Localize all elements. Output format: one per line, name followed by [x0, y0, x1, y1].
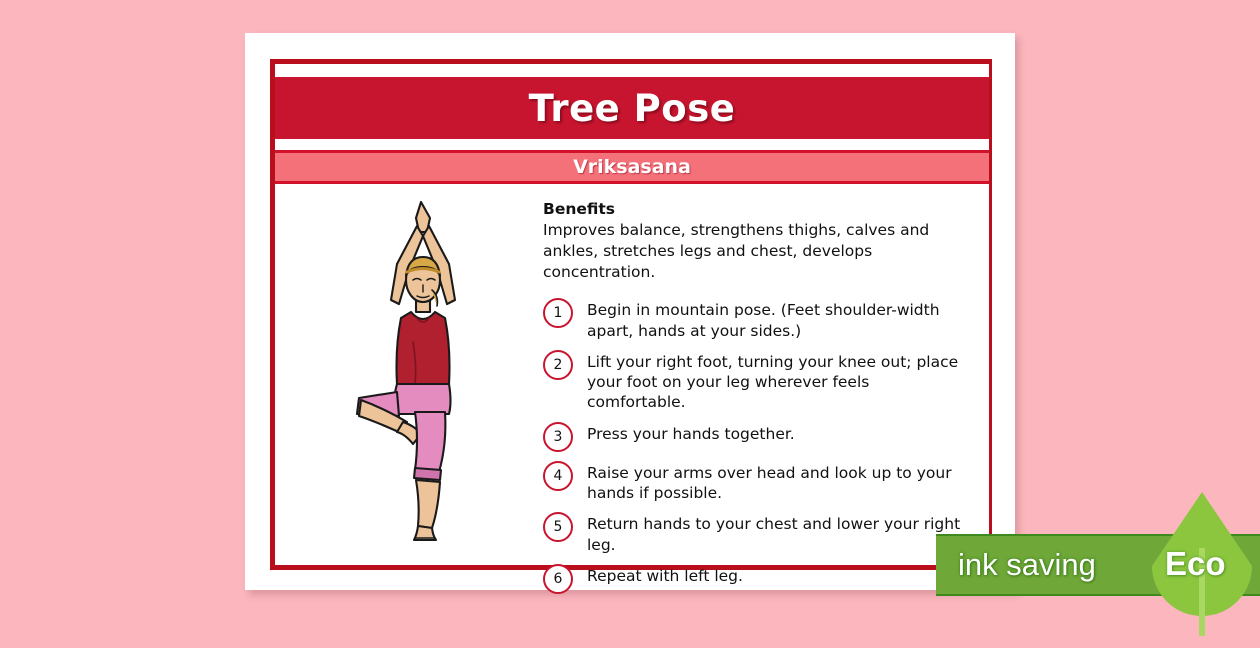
step-text: Begin in mountain pose. (Feet shoulder-w…	[587, 297, 965, 341]
ink-saving-eco-badge: ink saving Eco	[936, 534, 1260, 596]
step-text: Repeat with left leg.	[587, 563, 743, 586]
page-subtitle: Vriksasana	[573, 156, 691, 178]
step-number-badge: 6	[543, 564, 573, 594]
step-number-badge: 3	[543, 422, 573, 452]
illustration-column	[275, 184, 543, 560]
steps-list: 1 Begin in mountain pose. (Feet shoulder…	[543, 297, 985, 594]
step-number-badge: 1	[543, 298, 573, 328]
list-item: 4 Raise your arms over head and look up …	[543, 460, 985, 504]
title-top-gap	[275, 64, 989, 77]
leaf-icon-wrapper: Eco	[1142, 488, 1260, 648]
list-item: 2 Lift your right foot, turning your kne…	[543, 349, 985, 413]
benefits-heading: Benefits	[543, 200, 985, 219]
step-text: Lift your right foot, turning your knee …	[587, 349, 965, 413]
poster-subtitle-bar: Vriksasana	[275, 150, 989, 184]
ink-saving-label: ink saving	[958, 547, 1096, 583]
step-text: Return hands to your chest and lower you…	[587, 511, 965, 555]
list-item: 3 Press your hands together.	[543, 421, 985, 452]
step-number-badge: 5	[543, 512, 573, 542]
poster-page: Tree Pose Vriksasana	[245, 33, 1015, 590]
text-column: Benefits Improves balance, strengthens t…	[543, 184, 989, 560]
subtitle-top-gap	[275, 139, 989, 150]
poster-body: Benefits Improves balance, strengthens t…	[275, 184, 989, 560]
poster-inner-content: Tree Pose Vriksasana	[275, 64, 989, 564]
benefits-text: Improves balance, strengthens thighs, ca…	[543, 220, 943, 282]
step-text: Press your hands together.	[587, 421, 795, 444]
list-item: 5 Return hands to your chest and lower y…	[543, 511, 985, 555]
yoga-tree-pose-figure	[353, 192, 493, 552]
eco-word: Eco	[1165, 545, 1226, 583]
step-text: Raise your arms over head and look up to…	[587, 460, 965, 504]
screenshot-root: Tree Pose Vriksasana	[0, 0, 1260, 630]
step-number-badge: 2	[543, 350, 573, 380]
poster-title-bar: Tree Pose	[275, 77, 989, 139]
page-title: Tree Pose	[529, 87, 736, 130]
step-number-badge: 4	[543, 461, 573, 491]
list-item: 1 Begin in mountain pose. (Feet shoulder…	[543, 297, 985, 341]
list-item: 6 Repeat with left leg.	[543, 563, 985, 594]
